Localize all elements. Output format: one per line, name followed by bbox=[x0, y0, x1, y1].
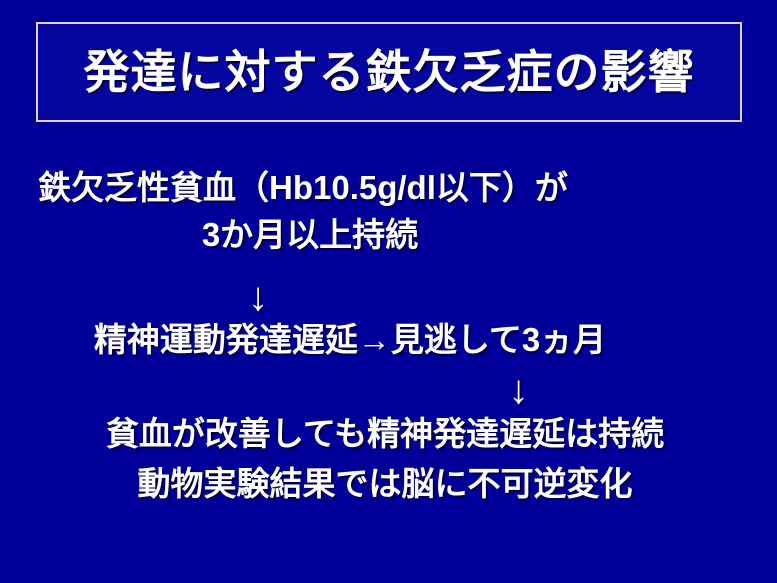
slide-canvas: 発達に対する鉄欠乏症の影響 鉄欠乏性貧血（Hb10.5g/dl以下）が 3か月以… bbox=[0, 0, 777, 583]
body-line-iron-deficiency-anemia: 鉄欠乏性貧血（Hb10.5g/dl以下）が bbox=[38, 171, 568, 204]
body-line-delay-persists: 貧血が改善しても精神発達遅延は持続 bbox=[0, 417, 770, 450]
slide-title: 発達に対する鉄欠乏症の影響 bbox=[38, 48, 740, 96]
down-arrow-icon-1: ↓ bbox=[0, 277, 516, 317]
body-line-three-months-duration: 3か月以上持続 bbox=[0, 218, 620, 251]
body-line-psychomotor-delay: 精神運動発達遅延→見逃して3ヵ月 bbox=[0, 323, 700, 356]
title-box: 発達に対する鉄欠乏症の影響 bbox=[36, 22, 742, 122]
body-line-animal-experiments: 動物実験結果では脳に不可逆変化 bbox=[0, 467, 770, 500]
down-arrow-icon-2: ↓ bbox=[0, 370, 777, 410]
